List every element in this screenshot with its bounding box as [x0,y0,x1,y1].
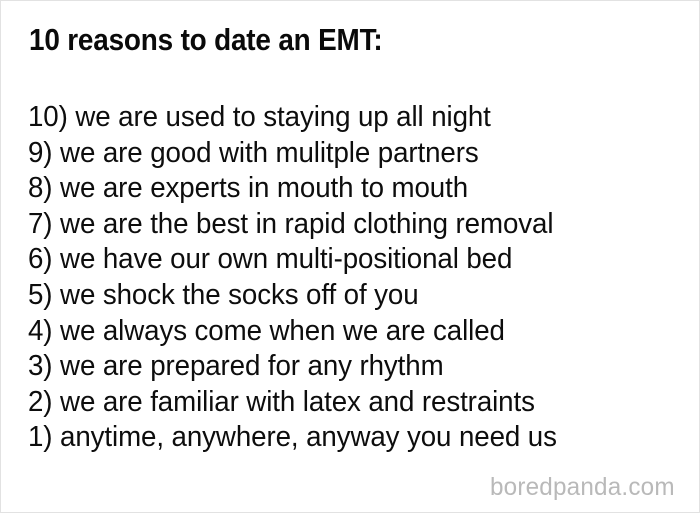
list-item-label: we are good with mulitple partners [60,137,479,169]
list-item: 9) we are good with mulitple partners [28,136,658,172]
list-item: 2) we are familiar with latex and restra… [28,385,658,421]
list-item-label: we are familiar with latex and restraint… [60,386,535,418]
list-item-number: 6) [28,243,52,275]
list-item-number: 5) [28,279,52,311]
list-item-label: anytime, anywhere, anyway you need us [60,421,557,453]
list-item: 10) we are used to staying up all night [28,100,658,136]
list-item: 5) we shock the socks off of you [28,278,658,314]
list-item-number: 2) [28,386,52,418]
list-item-number: 1) [28,421,52,453]
meme-card: 10 reasons to date an EMT: 10) we are us… [0,0,700,513]
list-item: 1) anytime, anywhere, anyway you need us [28,420,658,456]
list-item-number: 3) [28,350,52,382]
list-item-number: 7) [28,208,52,240]
list-item: 6) we have our own multi-positional bed [28,242,658,278]
list-item-label: we are used to staying up all night [75,101,490,133]
list-item-label: we shock the socks off of you [60,279,418,311]
list-item-number: 4) [28,315,52,347]
page-title: 10 reasons to date an EMT: [29,21,614,59]
list-item-label: we are experts in mouth to mouth [60,172,468,204]
meme-content-area: 10 reasons to date an EMT: 10) we are us… [1,1,700,513]
watermark-label: boredpanda.com [490,475,675,500]
list-item-label: we have our own multi-positional bed [60,243,512,275]
list-item: 4) we always come when we are called [28,314,658,350]
list-item-label: we always come when we are called [60,315,505,347]
list-item-number: 8) [28,172,52,204]
list-item: 7) we are the best in rapid clothing rem… [28,207,658,243]
list-item-label: we are prepared for any rhythm [60,350,444,382]
list-item-number: 9) [28,137,52,169]
list-item-number: 10) [28,101,68,133]
list-item: 3) we are prepared for any rhythm [28,349,658,385]
list-item-label: we are the best in rapid clothing remova… [60,208,553,240]
reason-list: 10) we are used to staying up all night … [28,100,688,456]
list-item: 8) we are experts in mouth to mouth [28,171,658,207]
